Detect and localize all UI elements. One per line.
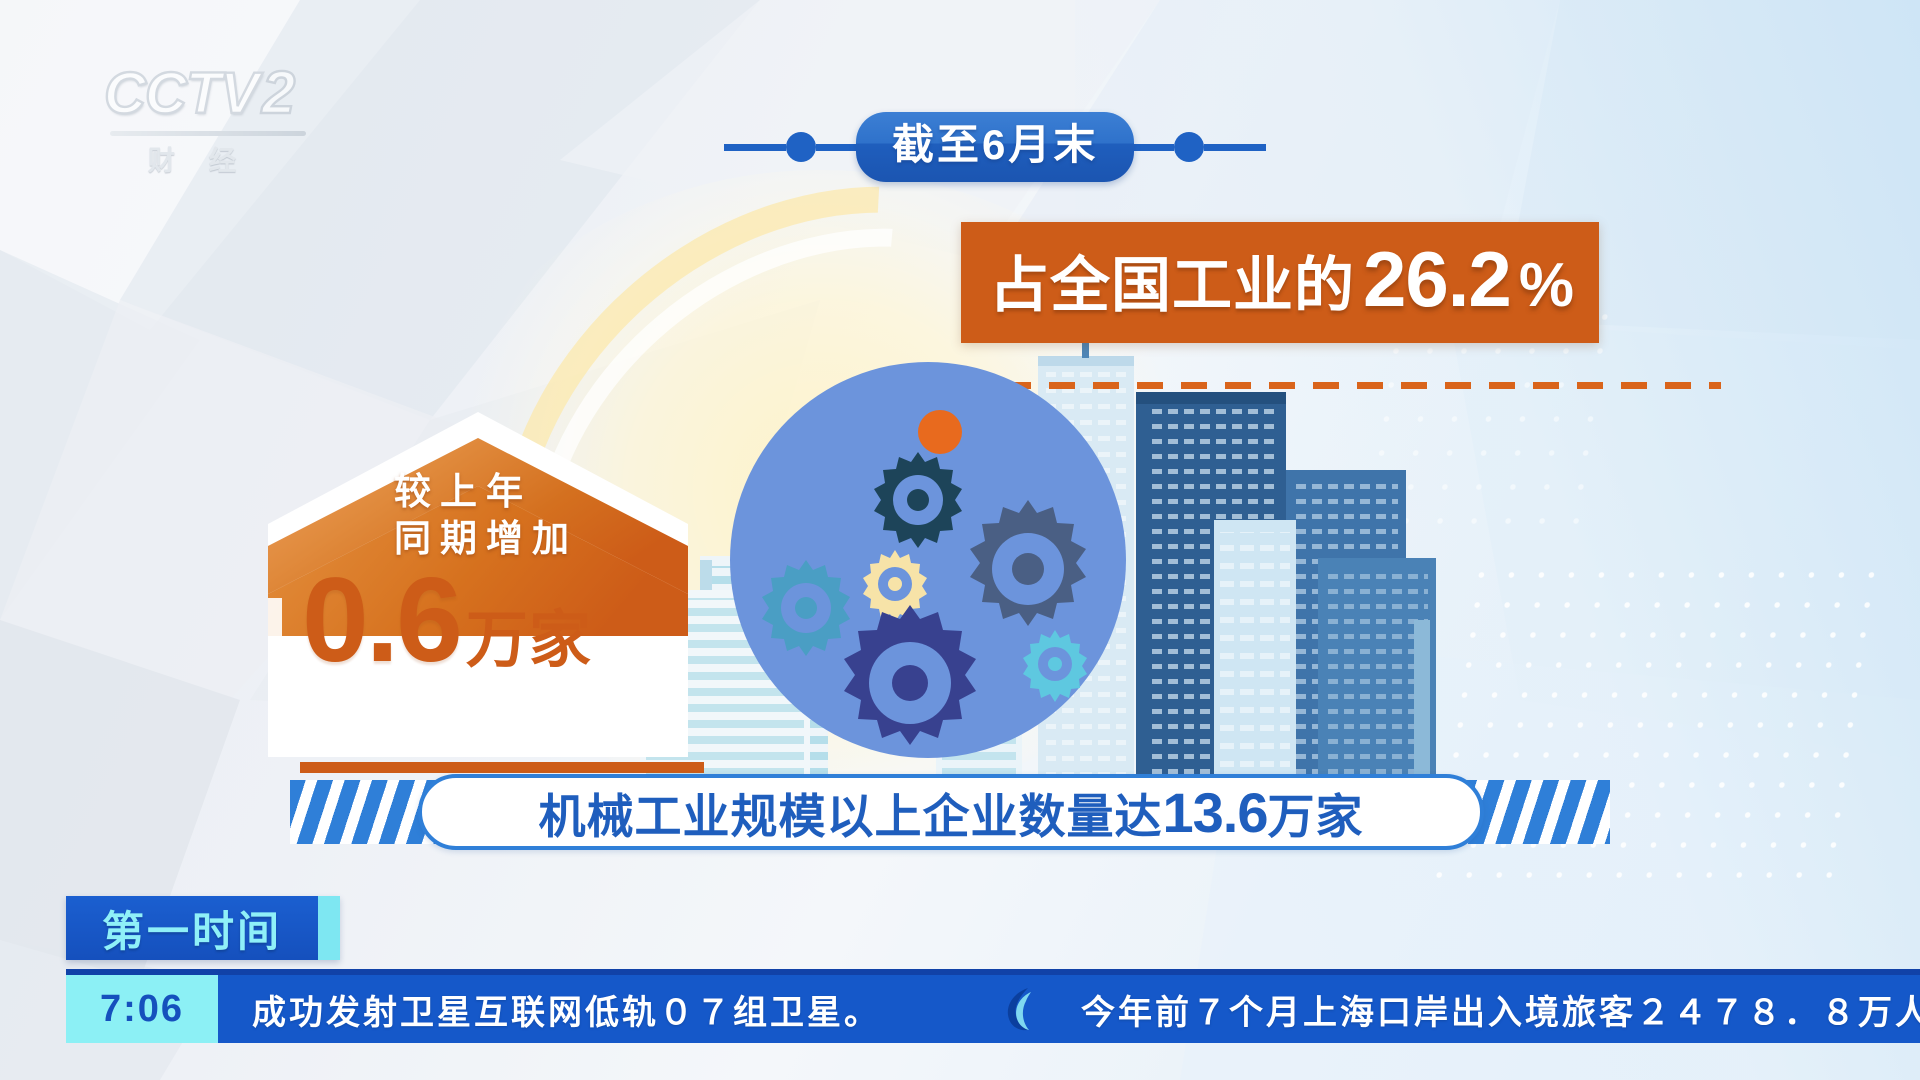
ticker-headline-1: 成功发射卫星互联网低轨０７组卫星。 <box>252 985 881 1034</box>
cctv-logo-bar <box>110 131 306 136</box>
house-card-label: 较上年 同期增加 <box>394 468 684 563</box>
main-headline-strip: 机械工业规模以上企业数量达 13.6 万家 <box>290 774 1610 850</box>
top-banner-label: 截至6月末 <box>892 121 1098 168</box>
banner-line-mid-right <box>1134 144 1174 151</box>
banner-dot-left <box>786 132 816 162</box>
top-date-banner: 截至6月末 <box>724 112 1266 182</box>
banner-dot-right <box>1174 132 1204 162</box>
cctv-logo-sub-2: 经 <box>209 139 236 178</box>
house-card-label-line1: 较上年 <box>394 468 684 515</box>
ticker-headline-2: 今年前７个月上海口岸出入境旅客２４７８．８万人次 <box>1081 985 1920 1034</box>
banner-line-left <box>724 144 786 151</box>
top-banner-pill: 截至6月末 <box>856 112 1134 182</box>
gear-cluster-circle <box>728 360 1128 760</box>
program-name-tag: 第一时间 <box>66 896 340 960</box>
headline-text-after: 万家 <box>1268 778 1364 847</box>
orange-banner-percent: % <box>1519 250 1573 321</box>
ticker-headlines: 成功发射卫星互联网低轨０７组卫星。 今年前７个月上海口岸出入境旅客２４７８．８万… <box>218 975 1920 1043</box>
moon-swirl-icon <box>985 986 1055 1032</box>
headline-number: 13.6 <box>1163 780 1268 845</box>
orange-stat-banner: 占全国工业的 26.2 % <box>961 222 1599 343</box>
house-card-unit: 万家 <box>466 589 592 679</box>
headline-text-before: 机械工业规模以上企业数量达 <box>539 778 1163 847</box>
house-card-value-row: 0.6 万家 <box>302 560 682 680</box>
cctv-logo-number: 2 <box>262 58 295 127</box>
orange-banner-number: 26.2 <box>1363 234 1511 325</box>
banner-line-mid <box>816 144 856 151</box>
banner-line-right <box>1204 144 1266 151</box>
house-card-number: 0.6 <box>302 560 460 680</box>
news-ticker-bar: 7:06 成功发射卫星互联网低轨０７组卫星。 今年前７个月上海口岸出入境旅客２４… <box>66 975 1920 1043</box>
orange-banner-text: 占全国工业的 <box>989 237 1355 324</box>
house-card-underline <box>300 762 704 773</box>
ticker-time-value: 7:06 <box>100 988 184 1031</box>
program-name-label: 第一时间 <box>102 898 282 959</box>
cctv-logo-text: CCTV <box>104 65 258 123</box>
accent-dot-icon <box>918 410 962 454</box>
ticker-top-edge <box>66 969 1920 975</box>
headline-pill: 机械工业规模以上企业数量达 13.6 万家 <box>418 774 1484 850</box>
cctv-channel-logo: CCTV 2 财 经 <box>104 58 324 168</box>
cctv-logo-sub-1: 财 <box>148 139 175 178</box>
house-stat-card: 较上年 同期增加 0.6 万家 <box>268 412 688 757</box>
program-tag-cap <box>318 896 340 960</box>
broadcast-stage: CCTV 2 财 经 截至6月末 占全国工业的 26.2 % <box>0 0 1920 1080</box>
ticker-clock: 7:06 <box>66 975 218 1043</box>
program-name-box: 第一时间 <box>66 896 318 960</box>
